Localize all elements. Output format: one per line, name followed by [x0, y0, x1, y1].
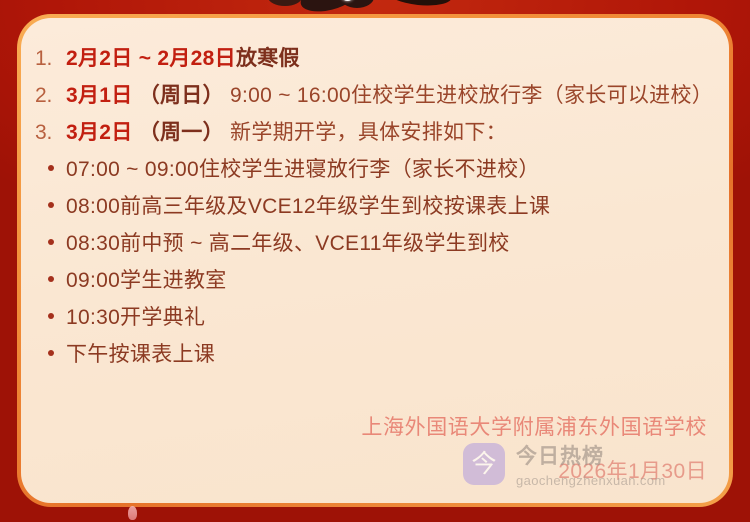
notice-item-segment: 3月1日: [66, 84, 133, 107]
notice-item-segment: 9:00 ~ 16:00住校学生进校放行李（家长可以进校）: [230, 84, 713, 107]
notice-bullet-text: 07:00 ~ 09:00住校学生进寝放行李（家长不进校）: [66, 153, 540, 183]
notice-item-segment: （周一）: [133, 121, 230, 144]
notice-numbered-item: 1.2月2日 ~ 2月28日放寒假: [35, 42, 719, 79]
notice-item-text: 3月1日 （周日） 9:00 ~ 16:00住校学生进校放行李（家长可以进校）: [66, 79, 713, 109]
ornament-blob-b: [340, 0, 374, 8]
notice-bullet-text: 08:30前中预 ~ 高二年级、VCE11年级学生到校: [66, 227, 510, 257]
bullet-dot-icon: [35, 355, 66, 361]
notice-item-segment: 3月2日: [66, 121, 133, 144]
notice-bullet-item: 下午按课表上课: [35, 338, 719, 375]
notice-numbered-item: 2.3月1日 （周日） 9:00 ~ 16:00住校学生进校放行李（家长可以进校…: [35, 79, 719, 116]
notice-bullet-item: 08:30前中预 ~ 高二年级、VCE11年级学生到校: [35, 227, 719, 264]
notice-bullet-item: 08:00前高三年级及VCE12年级学生到校按课表上课: [35, 190, 719, 227]
top-ornament-decoration: [0, 0, 750, 4]
list-marker-number: 3.: [35, 121, 66, 145]
notice-card-body: 1.2月2日 ~ 2月28日放寒假2.3月1日 （周日） 9:00 ~ 16:0…: [21, 18, 729, 503]
bottom-petal-decoration: [128, 506, 137, 520]
ornament-blob-left: [268, 0, 302, 6]
notice-bullet-text: 09:00学生进教室: [66, 264, 227, 294]
notice-bullet-item: 09:00学生进教室: [35, 264, 719, 301]
notice-item-segment: （周日）: [133, 84, 230, 107]
poster-background: 1.2月2日 ~ 2月28日放寒假2.3月1日 （周日） 9:00 ~ 16:0…: [0, 0, 750, 522]
notice-item-text: 2月2日 ~ 2月28日放寒假: [66, 42, 300, 72]
notice-numbered-item: 3.3月2日 （周一） 新学期开学，具体安排如下：: [35, 116, 719, 153]
notice-bullet-text: 08:00前高三年级及VCE12年级学生到校按课表上课: [66, 190, 550, 220]
list-marker-number: 1.: [35, 47, 66, 71]
bullet-dot-icon: [35, 281, 66, 287]
notice-item-segment: 新学期开学，具体安排如下：: [230, 121, 507, 144]
ornament-blob-c: [385, 0, 453, 8]
school-name: 上海外国语大学附属浦东外国语学校: [361, 413, 707, 443]
notice-card: 1.2月2日 ~ 2月28日放寒假2.3月1日 （周日） 9:00 ~ 16:0…: [17, 14, 733, 507]
notice-date: 2026年1月30日: [361, 457, 707, 487]
list-marker-number: 2.: [35, 84, 66, 108]
notice-bullet-text: 10:30开学典礼: [66, 301, 205, 331]
notice-item-text: 3月2日 （周一） 新学期开学，具体安排如下：: [66, 116, 507, 146]
notice-item-segment: 放寒假: [236, 47, 300, 70]
bullet-dot-icon: [35, 244, 66, 250]
notice-bullet-item: 10:30开学典礼: [35, 301, 719, 338]
notice-bullet-text: 下午按课表上课: [66, 338, 215, 368]
bullet-dot-icon: [35, 170, 66, 176]
notice-footer: 上海外国语大学附属浦东外国语学校 2026年1月30日: [361, 413, 707, 487]
bullet-dot-icon: [35, 318, 66, 324]
bullet-dot-icon: [35, 207, 66, 213]
notice-item-segment: 2月2日 ~ 2月28日: [66, 47, 236, 70]
ornament-highlight-dot: [341, 0, 354, 1]
notice-list: 1.2月2日 ~ 2月28日放寒假2.3月1日 （周日） 9:00 ~ 16:0…: [35, 42, 719, 375]
notice-bullet-item: 07:00 ~ 09:00住校学生进寝放行李（家长不进校）: [35, 153, 719, 190]
